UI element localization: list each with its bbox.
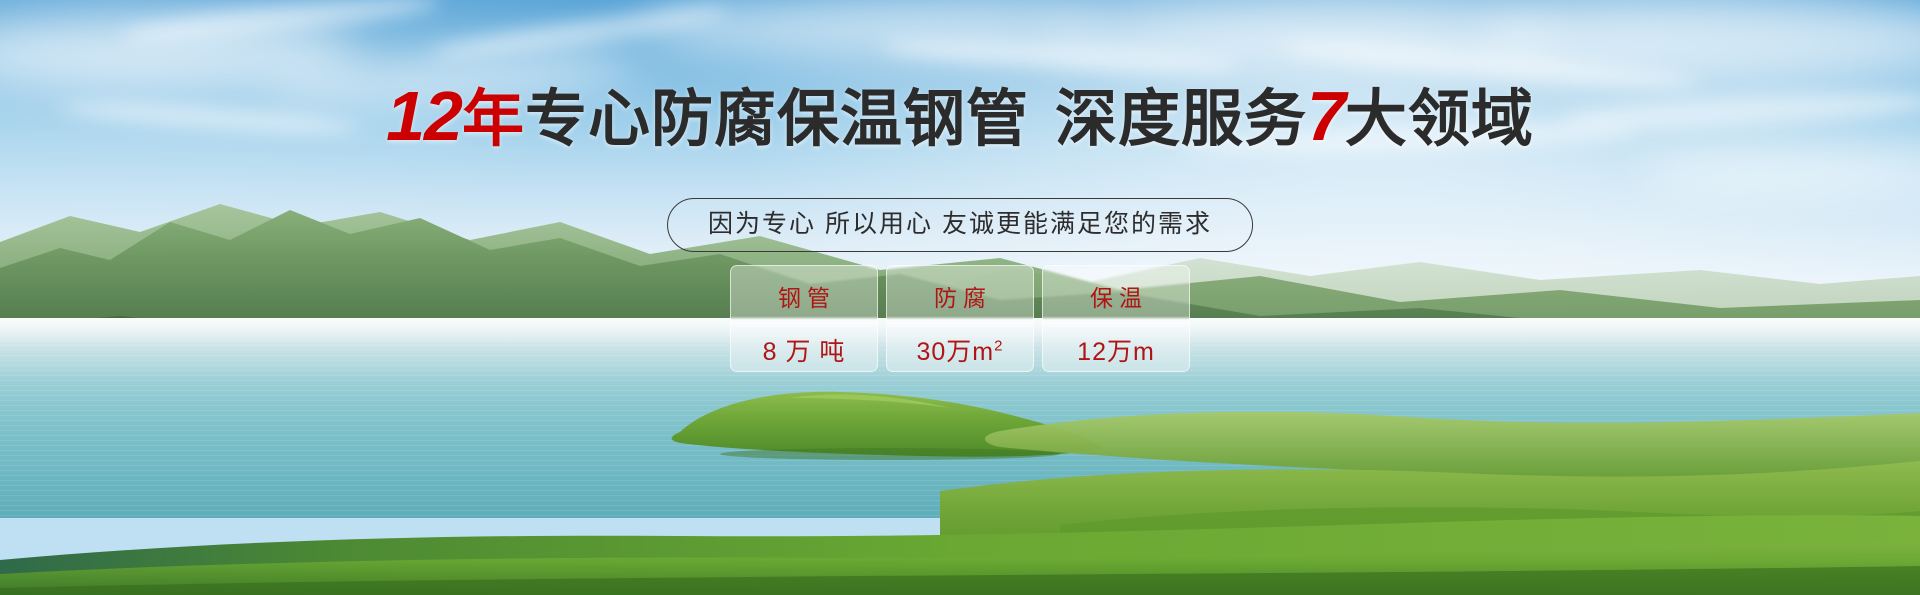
stat-card-steel-pipe[interactable]: 钢管 8 万 吨 bbox=[730, 265, 878, 372]
headline-fields-text: 大领域 bbox=[1345, 85, 1534, 154]
stat-card-value-text: 12万m bbox=[1077, 338, 1155, 366]
hero-subtitle-pill: 因为专心 所以用心 友诚更能满足您的需求 bbox=[667, 198, 1253, 252]
grass-shape bbox=[0, 500, 1920, 595]
stat-card-label: 防腐 bbox=[928, 285, 992, 311]
headline-second-text: 深度服务 bbox=[1055, 85, 1307, 154]
headline-main-text: 专心防腐保温钢管 bbox=[525, 85, 1029, 154]
foreground-grass bbox=[0, 500, 1920, 595]
stat-card-divider bbox=[1043, 323, 1189, 324]
stat-card-insulation[interactable]: 保温 12万m bbox=[1042, 265, 1190, 372]
stat-card-label: 钢管 bbox=[772, 285, 836, 311]
headline-years-unit: 年 bbox=[462, 85, 525, 154]
stat-card-value-text: 8 万 吨 bbox=[763, 338, 846, 366]
stat-card-value-text: 30万m bbox=[917, 338, 995, 366]
hero-headline: 12年专心防腐保温钢管深度服务7大领域 bbox=[0, 82, 1920, 154]
stat-card-anticorrosion[interactable]: 防腐 30万m2 bbox=[886, 265, 1034, 372]
hero-banner: 12年专心防腐保温钢管深度服务7大领域 因为专心 所以用心 友诚更能满足您的需求… bbox=[0, 0, 1920, 595]
stat-card-value: 12万m bbox=[1077, 337, 1155, 367]
headline-fields-number: 7 bbox=[1307, 77, 1345, 155]
stat-card-label: 保温 bbox=[1084, 285, 1148, 311]
stat-card-value: 8 万 吨 bbox=[763, 337, 846, 367]
hero-subtitle-text: 因为专心 所以用心 友诚更能满足您的需求 bbox=[708, 210, 1212, 238]
stat-card-divider bbox=[731, 323, 877, 324]
stat-card-divider bbox=[887, 323, 1033, 324]
headline-years-number: 12 bbox=[386, 77, 462, 155]
stat-card-value-superscript: 2 bbox=[994, 338, 1003, 355]
stat-card-value: 30万m2 bbox=[917, 337, 1004, 367]
stat-cards: 钢管 8 万 吨 防腐 30万m2 保温 12万m bbox=[730, 265, 1190, 372]
